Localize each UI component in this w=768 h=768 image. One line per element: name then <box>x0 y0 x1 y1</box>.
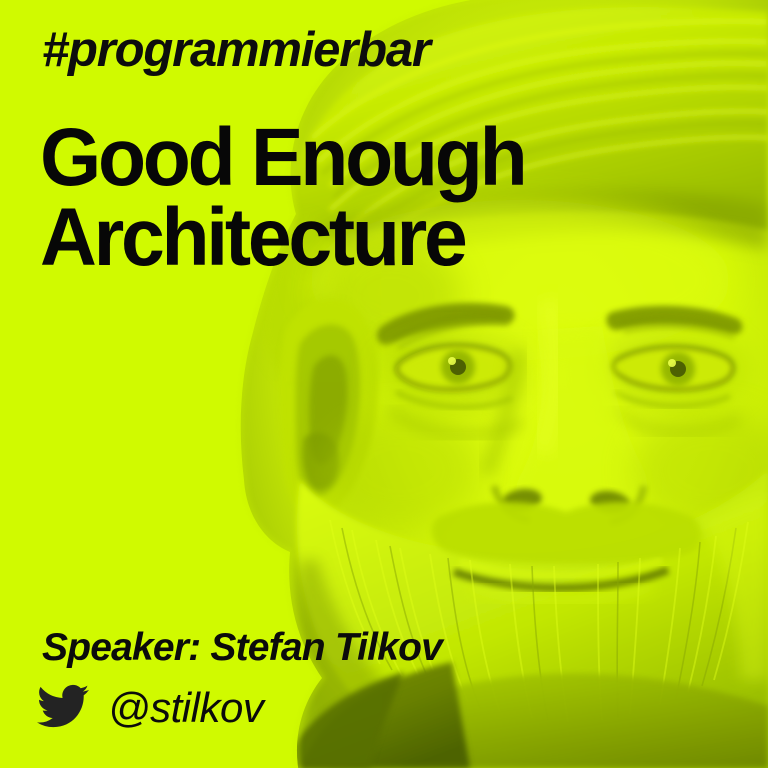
page-title: Good Enough Architecture <box>40 118 545 277</box>
promo-card: #programmierbar Good Enough Architecture… <box>0 0 768 768</box>
title-line-2: Architecture <box>40 198 524 278</box>
hashtag-label: #programmierbar <box>42 26 430 75</box>
twitter-handle-row[interactable]: @stilkov <box>32 680 263 732</box>
twitter-bird-icon[interactable] <box>32 680 94 732</box>
title-line-1: Good Enough <box>40 118 524 198</box>
speaker-label: Speaker: Stefan Tilkov <box>42 628 442 667</box>
text-layer: #programmierbar Good Enough Architecture… <box>0 0 768 768</box>
twitter-handle-label[interactable]: @stilkov <box>108 687 263 729</box>
